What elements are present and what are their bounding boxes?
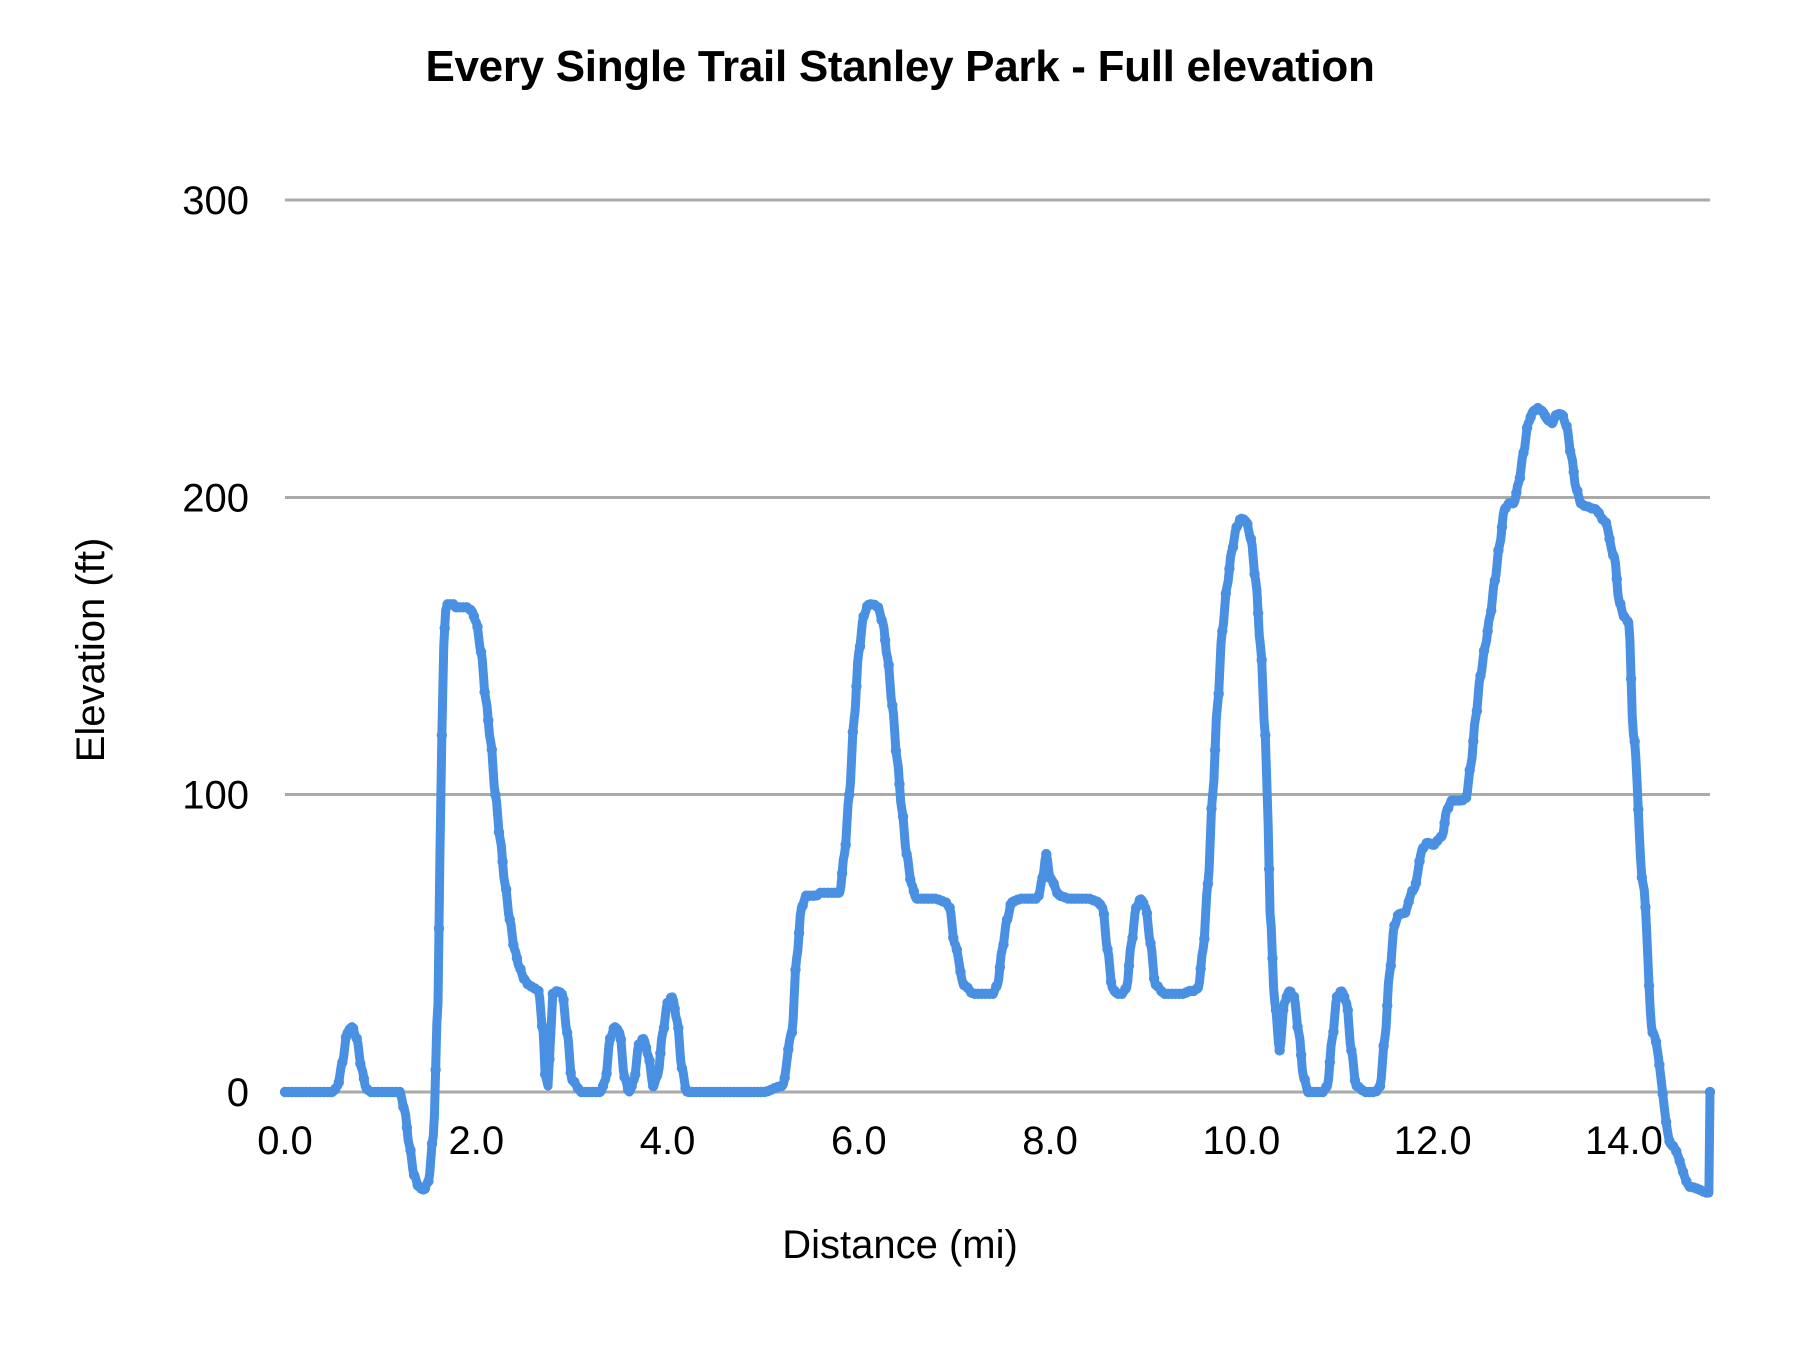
data-point	[1138, 898, 1148, 908]
data-point	[1654, 1060, 1664, 1070]
data-point	[487, 744, 497, 754]
data-point	[1436, 831, 1446, 841]
y-tick-label: 100	[182, 774, 249, 818]
data-point	[1389, 920, 1399, 930]
data-point	[395, 1087, 405, 1097]
y-axis-title: Elevation (ft)	[69, 538, 113, 763]
data-point	[533, 986, 543, 996]
data-point	[337, 1057, 347, 1067]
x-tick-label: 6.0	[831, 1119, 887, 1163]
data-point	[601, 1068, 611, 1078]
data-point	[619, 1072, 629, 1082]
elevation-line-chart: 0100200300 0.02.04.06.08.010.012.014.0 D…	[0, 0, 1800, 1350]
data-point	[1292, 1022, 1302, 1032]
data-point	[409, 1170, 419, 1180]
data-point	[673, 1023, 683, 1033]
data-point	[1472, 706, 1482, 716]
data-point	[1106, 977, 1116, 987]
data-point	[1461, 792, 1471, 802]
data-point	[1644, 980, 1654, 990]
x-axis-title: Distance (mi)	[782, 1223, 1018, 1267]
data-point	[1289, 992, 1299, 1002]
data-point	[1612, 574, 1622, 584]
data-point	[1221, 588, 1231, 598]
data-point	[1099, 909, 1109, 919]
data-point	[472, 622, 482, 632]
data-point	[558, 995, 568, 1005]
data-point	[494, 827, 504, 837]
data-point	[1511, 488, 1521, 498]
data-point	[1095, 899, 1105, 909]
data-point	[434, 923, 444, 933]
data-point	[1206, 803, 1216, 813]
data-point	[797, 901, 807, 911]
data-point	[876, 615, 886, 625]
x-tick-label: 0.0	[257, 1119, 313, 1163]
data-point	[1278, 1005, 1288, 1015]
data-point	[405, 1145, 415, 1155]
data-point	[423, 1176, 433, 1186]
data-point	[1120, 984, 1130, 994]
chart-container: Every Single Trail Stanley Park - Full e…	[0, 0, 1800, 1350]
data-point	[1486, 605, 1496, 615]
data-point	[1482, 626, 1492, 636]
data-point	[612, 1024, 622, 1034]
data-point	[840, 840, 850, 850]
data-point	[1142, 908, 1152, 918]
data-point	[1615, 599, 1625, 609]
data-point	[1465, 765, 1475, 775]
data-point	[1249, 569, 1259, 579]
series-group	[280, 403, 1715, 1198]
data-point	[1626, 674, 1636, 684]
data-point	[1199, 934, 1209, 944]
data-point	[1661, 1117, 1671, 1127]
data-point	[1678, 1167, 1688, 1177]
data-point	[427, 1138, 437, 1148]
data-point	[1343, 1005, 1353, 1015]
data-point	[780, 1072, 790, 1082]
data-point	[626, 1081, 636, 1091]
data-point	[1572, 486, 1582, 496]
data-point	[948, 933, 958, 943]
data-point	[894, 779, 904, 789]
data-point	[898, 811, 908, 821]
data-point	[880, 635, 890, 645]
data-point	[1196, 963, 1206, 973]
data-point	[1213, 689, 1223, 699]
data-point	[641, 1042, 651, 1052]
data-point	[1601, 517, 1611, 527]
data-point	[540, 1069, 550, 1079]
data-point	[1622, 616, 1632, 626]
data-point	[1328, 1027, 1338, 1037]
data-point	[1386, 960, 1396, 970]
x-tick-label: 4.0	[640, 1119, 696, 1163]
elevation-series-line	[285, 408, 1710, 1193]
data-point	[544, 1054, 554, 1064]
data-point	[1508, 498, 1518, 508]
data-point	[887, 700, 897, 710]
data-point	[1565, 446, 1575, 456]
data-point	[469, 611, 479, 621]
data-point	[848, 727, 858, 737]
data-point	[1629, 736, 1639, 746]
data-point	[677, 1063, 687, 1073]
data-point	[505, 914, 515, 924]
data-point	[1321, 1082, 1331, 1092]
data-point	[666, 993, 676, 1003]
data-point	[1569, 467, 1579, 477]
data-point	[1633, 804, 1643, 814]
data-point	[348, 1023, 358, 1033]
data-point	[1493, 545, 1503, 555]
data-point	[515, 964, 525, 974]
data-point	[901, 849, 911, 859]
data-point	[1002, 914, 1012, 924]
data-point	[1475, 671, 1485, 681]
data-point	[884, 660, 894, 670]
data-point	[833, 888, 843, 898]
data-point	[1522, 422, 1532, 432]
data-point	[512, 953, 522, 963]
data-point	[1518, 448, 1528, 458]
data-point	[844, 789, 854, 799]
data-point	[398, 1102, 408, 1112]
data-point	[873, 602, 883, 612]
data-point	[1640, 902, 1650, 912]
data-point	[1192, 983, 1202, 993]
data-point	[790, 965, 800, 975]
data-point	[616, 1034, 626, 1044]
data-point	[670, 1004, 680, 1014]
y-tick-label: 300	[182, 179, 249, 223]
data-point	[352, 1033, 362, 1043]
data-point	[1378, 1041, 1388, 1051]
data-point	[1257, 655, 1267, 665]
data-point	[437, 730, 447, 740]
data-point	[652, 1071, 662, 1081]
data-point	[944, 902, 954, 912]
x-tick-label: 14.0	[1585, 1119, 1663, 1163]
data-point	[1382, 1001, 1392, 1011]
data-point	[1414, 856, 1424, 866]
data-point	[1260, 730, 1270, 740]
data-point	[476, 647, 486, 657]
data-point	[402, 1122, 412, 1132]
data-point	[1339, 992, 1349, 1002]
data-point	[787, 1027, 797, 1037]
data-point	[655, 1048, 665, 1058]
data-point	[1102, 944, 1112, 954]
data-point	[648, 1081, 658, 1091]
x-tick-label: 10.0	[1202, 1119, 1280, 1163]
x-tick-label: 8.0	[1022, 1119, 1078, 1163]
data-point	[1497, 522, 1507, 532]
data-point	[794, 928, 804, 938]
data-point	[851, 681, 861, 691]
data-point	[858, 611, 868, 621]
data-point	[479, 687, 489, 697]
data-point	[1561, 421, 1571, 431]
data-point	[1701, 1187, 1711, 1197]
data-point	[355, 1058, 365, 1068]
data-point	[1411, 878, 1421, 888]
data-point	[837, 868, 847, 878]
data-point	[1253, 608, 1263, 618]
data-point	[1674, 1156, 1684, 1166]
data-point	[334, 1077, 344, 1087]
data-point	[1515, 473, 1525, 483]
data-point	[1300, 1074, 1310, 1084]
x-tick-label: 2.0	[448, 1119, 504, 1163]
data-point	[1048, 878, 1058, 888]
data-point	[1468, 736, 1478, 746]
data-point	[1346, 1045, 1356, 1055]
data-point	[1671, 1146, 1681, 1156]
data-point	[1210, 745, 1220, 755]
data-point	[998, 939, 1008, 949]
data-point	[1325, 1057, 1335, 1067]
data-point	[1033, 891, 1043, 901]
data-point	[1296, 1050, 1306, 1060]
data-point	[952, 945, 962, 955]
x-tick-label: 12.0	[1394, 1119, 1472, 1163]
data-point	[1404, 897, 1414, 907]
data-point	[1637, 872, 1647, 882]
data-point	[501, 884, 511, 894]
data-point	[490, 789, 500, 799]
data-point	[598, 1081, 608, 1091]
data-point	[1490, 575, 1500, 585]
y-tick-label: 200	[182, 476, 249, 520]
y-tick-label: 0	[227, 1071, 249, 1115]
data-point	[1439, 818, 1449, 828]
data-point	[440, 623, 450, 633]
data-point	[1224, 563, 1234, 573]
data-point	[1608, 550, 1618, 560]
data-point	[1267, 953, 1277, 963]
data-point	[783, 1044, 793, 1054]
data-point	[1124, 960, 1134, 970]
data-point	[483, 715, 493, 725]
data-point	[537, 1021, 547, 1031]
data-point	[359, 1073, 369, 1083]
data-point	[1041, 849, 1051, 859]
y-axis-tick-labels: 0100200300	[182, 179, 249, 1115]
data-point	[905, 874, 915, 884]
data-point	[991, 981, 1001, 991]
data-point	[508, 939, 518, 949]
data-point	[1242, 519, 1252, 529]
data-point	[1228, 542, 1238, 552]
data-point	[1647, 1027, 1657, 1037]
data-point	[630, 1069, 640, 1079]
data-point	[1203, 879, 1213, 889]
data-point	[1274, 1045, 1284, 1055]
data-point	[1658, 1089, 1668, 1099]
data-point	[430, 1065, 440, 1075]
data-point	[562, 1027, 572, 1037]
data-point	[1264, 864, 1274, 874]
data-point	[1246, 534, 1256, 544]
data-point	[1479, 645, 1489, 655]
x-axis-tick-labels: 0.02.04.06.08.010.012.014.0	[257, 1119, 1663, 1163]
data-point	[1127, 933, 1137, 943]
data-point	[605, 1033, 615, 1043]
data-point	[855, 641, 865, 651]
data-point	[644, 1056, 654, 1066]
data-point	[955, 967, 965, 977]
data-point	[1145, 938, 1155, 948]
data-point	[497, 856, 507, 866]
data-point	[1375, 1081, 1385, 1091]
data-point	[1217, 626, 1227, 636]
data-point	[566, 1067, 576, 1077]
data-point	[1558, 411, 1568, 421]
data-point	[891, 745, 901, 755]
data-point	[1651, 1037, 1661, 1047]
data-point	[995, 962, 1005, 972]
data-point	[659, 1023, 669, 1033]
data-point	[1400, 907, 1410, 917]
data-point	[1604, 534, 1614, 544]
data-point	[1705, 1087, 1715, 1097]
